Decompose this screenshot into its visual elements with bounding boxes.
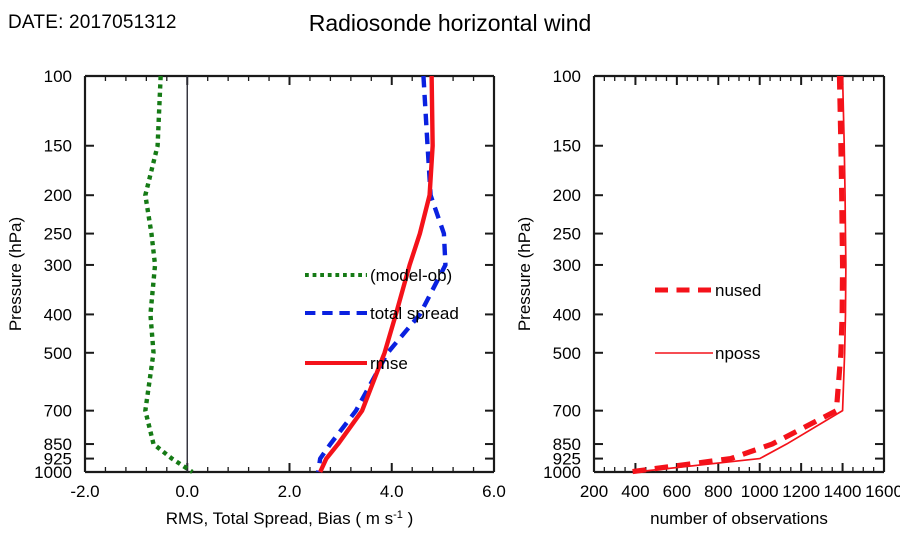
plot-area: -2.00.02.04.06.0100150200250300400500700…	[0, 0, 900, 560]
y-tick-label: 1000	[34, 463, 72, 482]
x-tick-label: 1400	[824, 482, 862, 501]
figure-canvas: DATE: 2017051312 Radiosonde horizontal w…	[0, 0, 900, 560]
x-tick-label: 200	[580, 482, 608, 501]
legend-label: nused	[715, 281, 761, 300]
y-tick-label: 500	[553, 344, 581, 363]
legend-label: rmse	[370, 354, 408, 373]
series-nposs	[635, 76, 845, 472]
y-tick-label: 100	[44, 67, 72, 86]
x-tick-label: 0.0	[175, 482, 199, 501]
legend-label: nposs	[715, 344, 760, 363]
series-model-ob	[145, 76, 192, 472]
y-tick-label: 200	[44, 186, 72, 205]
x-tick-label: 800	[704, 482, 732, 501]
x-tick-label: 1000	[741, 482, 779, 501]
x-axis-label: RMS, Total Spread, Bias ( m s-1 )	[166, 509, 414, 528]
x-tick-label: -2.0	[70, 482, 99, 501]
x-tick-label: 400	[621, 482, 649, 501]
y-tick-label: 500	[44, 344, 72, 363]
x-tick-label: 6.0	[482, 482, 506, 501]
x-tick-label: 4.0	[380, 482, 404, 501]
y-axis-label: Pressure (hPa)	[6, 217, 25, 331]
y-tick-label: 700	[44, 402, 72, 421]
series-nused	[629, 76, 842, 472]
y-tick-label: 1000	[543, 463, 581, 482]
y-tick-label: 150	[44, 137, 72, 156]
y-tick-label: 700	[553, 402, 581, 421]
legend-label: total spread	[370, 304, 459, 323]
y-tick-label: 100	[553, 67, 581, 86]
x-tick-label: 600	[663, 482, 691, 501]
y-tick-label: 400	[44, 305, 72, 324]
x-tick-label: 2.0	[278, 482, 302, 501]
x-tick-label: 1600	[865, 482, 900, 501]
x-axis-label: number of observations	[650, 509, 828, 528]
y-tick-label: 250	[553, 225, 581, 244]
x-tick-label: 1200	[782, 482, 820, 501]
legend-label: (model-ob)	[370, 266, 452, 285]
y-tick-label: 200	[553, 186, 581, 205]
y-tick-label: 300	[553, 256, 581, 275]
y-tick-label: 150	[553, 137, 581, 156]
y-tick-label: 250	[44, 225, 72, 244]
y-axis-label: Pressure (hPa)	[515, 217, 534, 331]
y-tick-label: 300	[44, 256, 72, 275]
y-tick-label: 400	[553, 305, 581, 324]
